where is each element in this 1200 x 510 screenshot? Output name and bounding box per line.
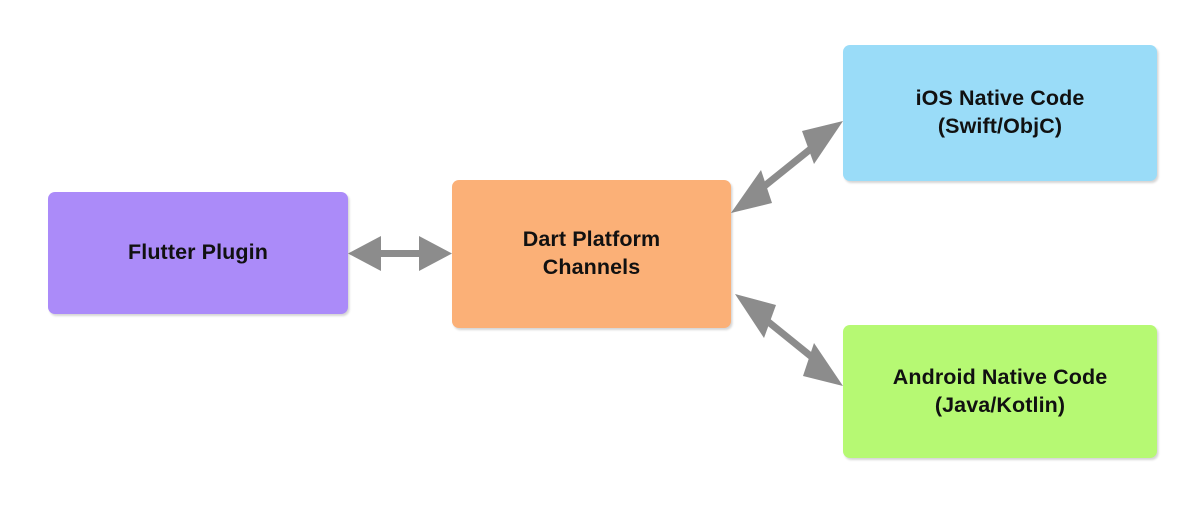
arrowhead-lower-left — [731, 170, 772, 213]
node-flutter-plugin-label: Flutter Plugin — [118, 239, 278, 267]
node-android-native-code[interactable]: Android Native Code (Java/Kotlin) — [843, 325, 1157, 458]
node-flutter-plugin[interactable]: Flutter Plugin — [48, 192, 348, 314]
connector-dart-platform-channels-to-android-native-code[interactable] — [735, 294, 843, 386]
arrowhead-right — [419, 236, 452, 271]
connector-flutter-plugin-to-dart-platform-channels[interactable] — [348, 236, 452, 271]
arrowhead-left — [348, 236, 381, 271]
node-ios-native-code[interactable]: iOS Native Code (Swift/ObjC) — [843, 45, 1157, 181]
arrowhead-upper-left — [735, 294, 776, 338]
node-dart-platform-channels-label: Dart Platform Channels — [513, 226, 671, 281]
connector-dart-platform-channels-to-ios-native-code[interactable] — [731, 121, 843, 213]
connector-line — [761, 316, 818, 362]
node-ios-native-code-label: iOS Native Code (Swift/ObjC) — [906, 85, 1095, 140]
arrowhead-lower-right — [803, 343, 843, 386]
arrowhead-upper-right — [802, 121, 843, 164]
diagram-canvas: Dart Platform Channels (horizontal) --> … — [0, 0, 1200, 510]
node-dart-platform-channels[interactable]: Dart Platform Channels — [452, 180, 731, 328]
connector-line — [757, 143, 818, 192]
node-android-native-code-label: Android Native Code (Java/Kotlin) — [883, 364, 1118, 419]
